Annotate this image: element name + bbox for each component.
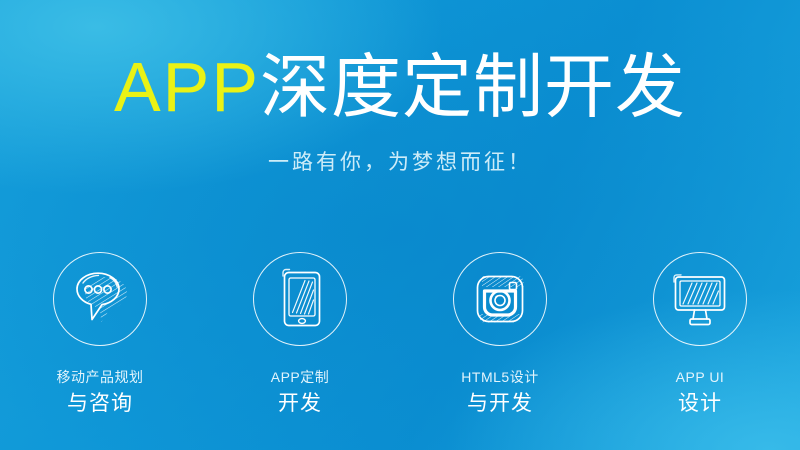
feature-caption-line1: APP定制 <box>271 370 330 384</box>
feature-icon-circle <box>653 252 747 346</box>
page-title-rest: 深度定制开发 <box>260 48 686 126</box>
feature-icon-circle <box>453 252 547 346</box>
feature-item-consulting[interactable]: 移动产品规划 与咨询 <box>0 252 200 414</box>
feature-caption-line1: APP UI <box>676 370 725 384</box>
feature-caption: 移动产品规划 与咨询 <box>57 370 144 414</box>
page-title-accent: APP <box>114 48 260 126</box>
feature-caption: APP UI 设计 <box>676 370 725 414</box>
page-title: APP深度定制开发 <box>0 52 800 122</box>
tablet-device-icon <box>275 267 325 331</box>
feature-caption-line1: HTML5设计 <box>461 370 538 384</box>
feature-caption-line2: 与开发 <box>461 393 538 414</box>
feature-caption-line2: 与咨询 <box>57 393 144 414</box>
feature-icon-circle <box>253 252 347 346</box>
feature-caption-line1: 移动产品规划 <box>57 370 144 384</box>
feature-item-ui-design[interactable]: APP UI 设计 <box>600 252 800 414</box>
promo-banner: APP深度定制开发 一路有你，为梦想而征！ <box>0 0 800 450</box>
feature-item-html5-design[interactable]: HTML5设计 与开发 <box>400 252 600 414</box>
desktop-monitor-icon <box>667 270 733 328</box>
feature-item-app-development[interactable]: APP定制 开发 <box>200 252 400 414</box>
feature-caption: APP定制 开发 <box>271 370 330 414</box>
feature-list: 移动产品规划 与咨询 <box>0 252 800 414</box>
feature-caption-line2: 设计 <box>676 393 725 414</box>
feature-caption-line2: 开发 <box>271 393 330 414</box>
camera-instagram-icon <box>470 269 530 329</box>
page-subtitle: 一路有你，为梦想而征！ <box>0 152 800 173</box>
speech-bubble-icon <box>69 270 131 328</box>
feature-icon-circle <box>53 252 147 346</box>
feature-caption: HTML5设计 与开发 <box>461 370 538 414</box>
